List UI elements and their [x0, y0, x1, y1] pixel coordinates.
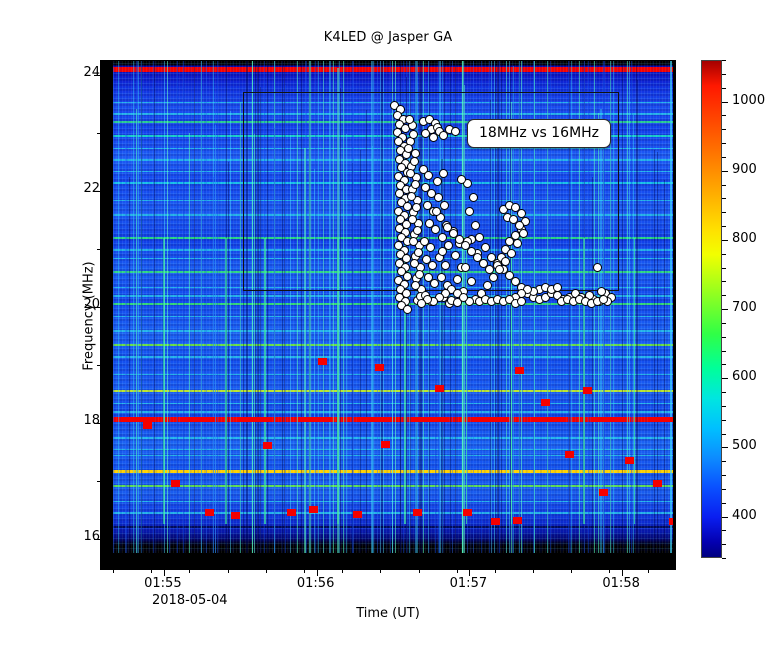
colorbar-tick [722, 240, 728, 241]
x-tick-minor [228, 569, 229, 573]
y-tick-minor [97, 133, 101, 134]
colorbar-tick-minor [722, 558, 726, 559]
x-tick [469, 569, 470, 576]
scatter-point [475, 233, 484, 242]
colorbar-tick-label: 1000 [732, 93, 765, 108]
colorbar-tick-minor [722, 115, 726, 116]
colorbar-tick-minor [722, 364, 726, 365]
scatter-point [438, 233, 447, 242]
scatter-point [413, 226, 422, 235]
scatter-point [483, 281, 492, 290]
colorbar-tick-minor [722, 157, 726, 158]
x-tick-minor [571, 569, 572, 573]
y-tick-minor [97, 365, 101, 366]
y-tick-label: 24 [40, 65, 100, 80]
x-axis-title: Time (UT) [100, 606, 676, 621]
colorbar-tick [722, 447, 728, 448]
colorbar-tick-label: 900 [732, 162, 757, 177]
colorbar [701, 60, 722, 558]
scatter-point [553, 283, 562, 292]
scatter-point [410, 259, 419, 268]
colorbar-tick-label: 400 [732, 508, 757, 523]
scatter-point [433, 177, 442, 186]
scatter-point [432, 207, 441, 216]
scatter-point [409, 130, 418, 139]
colorbar-tick-minor [722, 281, 726, 282]
x-tick-minor [533, 569, 534, 573]
colorbar-tick-minor [722, 198, 726, 199]
scatter-point [489, 273, 498, 282]
scatter-point [457, 175, 466, 184]
x-tick-minor [189, 569, 190, 573]
colorbar-tick-minor [722, 268, 726, 269]
scatter-point [501, 257, 510, 266]
x-tick-label: 01:57 [428, 576, 508, 591]
figure-canvas: K4LED @ Jasper GA 18MHz vs 16MHz Frequen… [0, 0, 783, 656]
colorbar-tick [722, 171, 728, 172]
scatter-point [481, 243, 490, 252]
scatter-point [424, 171, 433, 180]
x-tick-minor [266, 569, 267, 573]
x-tick-minor [304, 569, 305, 573]
colorbar-tick-label: 700 [732, 300, 757, 315]
scatter-point [437, 273, 446, 282]
x-tick-label: 01:58 [581, 576, 661, 591]
x-tick-label: 01:56 [276, 576, 356, 591]
y-tick-minor [97, 249, 101, 250]
scatter-point [451, 127, 460, 136]
colorbar-tick-minor [722, 461, 726, 462]
colorbar-tick-minor [722, 295, 726, 296]
colorbar-tick-minor [722, 530, 726, 531]
scatter-point [453, 275, 462, 284]
scatter-point [428, 261, 437, 270]
colorbar-tick-minor [722, 337, 726, 338]
x-tick [622, 569, 623, 576]
colorbar-tick-minor [722, 129, 726, 130]
scatter-point [411, 180, 420, 189]
colorbar-tick-minor [722, 185, 726, 186]
scatter-point [451, 251, 460, 260]
scatter-point [408, 215, 417, 224]
scatter-point [429, 133, 438, 142]
colorbar-tick-label: 600 [732, 369, 757, 384]
colorbar-tick-minor [722, 420, 726, 421]
colorbar-tick-minor [722, 434, 726, 435]
colorbar-tick-minor [722, 323, 726, 324]
scatter-point [426, 243, 435, 252]
x-tick-label: 01:55 [123, 576, 203, 591]
colorbar-tick-minor [722, 544, 726, 545]
scatter-point [593, 263, 602, 272]
scatter-point [431, 225, 440, 234]
scatter-point [443, 223, 452, 232]
scatter-point [412, 203, 421, 212]
y-axis-title: Frequency (MHz) [82, 261, 97, 370]
colorbar-tick [722, 517, 728, 518]
scatter-point [599, 295, 608, 304]
x-tick-minor [151, 569, 152, 573]
colorbar-tick-minor [722, 351, 726, 352]
colorbar-tick [722, 378, 728, 379]
y-tick-label: 18 [40, 413, 100, 428]
colorbar-tick-minor [722, 143, 726, 144]
colorbar-tick-minor [722, 88, 726, 89]
scatter-point [465, 207, 474, 216]
x-tick-minor [380, 569, 381, 573]
spectrogram-axes: 18MHz vs 16MHz Frequency (MHz) [100, 60, 676, 570]
colorbar-tick [722, 102, 728, 103]
colorbar-tick-minor [722, 74, 726, 75]
scatter-point [409, 237, 418, 246]
y-tick-label: 20 [40, 297, 100, 312]
scatter-point [438, 247, 447, 256]
scatter-point [414, 248, 423, 257]
x-tick-minor [648, 569, 649, 573]
colorbar-tick-minor [722, 392, 726, 393]
page-title: K4LED @ Jasper GA [100, 30, 676, 45]
y-tick-minor [97, 481, 101, 482]
scatter-point [495, 265, 504, 274]
scatter-point [404, 144, 413, 153]
colorbar-tick-label: 500 [732, 438, 757, 453]
x-tick-minor [342, 569, 343, 573]
colorbar-tick [722, 309, 728, 310]
colorbar-tick-minor [722, 489, 726, 490]
x-tick-minor [495, 569, 496, 573]
x-tick-minor [419, 569, 420, 573]
x-tick-minor [457, 569, 458, 573]
scatter-point [469, 193, 478, 202]
colorbar-tick-minor [722, 475, 726, 476]
x-tick [164, 569, 165, 576]
date-label: 2018-05-04 [152, 593, 228, 608]
x-tick-minor [609, 569, 610, 573]
scatter-point [417, 299, 426, 308]
y-tick-label: 16 [40, 529, 100, 544]
colorbar-tick-label: 800 [732, 231, 757, 246]
colorbar-tick-minor [722, 212, 726, 213]
scatter-point [519, 229, 528, 238]
scatter-point [471, 221, 480, 230]
scatter-point [440, 201, 449, 210]
scatter-point [467, 277, 476, 286]
x-tick [317, 569, 318, 576]
scatter-point [459, 293, 468, 302]
scatter-point [405, 115, 414, 124]
scatter-point [439, 169, 448, 178]
x-tick-minor [113, 569, 114, 573]
scatter-point [403, 305, 412, 314]
colorbar-tick-minor [722, 60, 726, 61]
colorbar-tick-minor [722, 406, 726, 407]
scatter-point [434, 193, 443, 202]
annotation-label: 18MHz vs 16MHz [467, 119, 611, 148]
y-tick-label: 22 [40, 181, 100, 196]
scatter-point [406, 169, 415, 178]
scatter-point [407, 192, 416, 201]
scatter-point [513, 239, 522, 248]
colorbar-tick-minor [722, 254, 726, 255]
scatter-point [439, 131, 448, 140]
colorbar-tick-minor [722, 503, 726, 504]
scatter-point [517, 297, 526, 306]
scatter-point [411, 281, 420, 290]
scatter-point [410, 157, 419, 166]
scatter-point [441, 261, 450, 270]
colorbar-tick-minor [722, 226, 726, 227]
scatter-point [461, 263, 470, 272]
scatter-point [507, 249, 516, 258]
scatter-point [415, 270, 424, 279]
